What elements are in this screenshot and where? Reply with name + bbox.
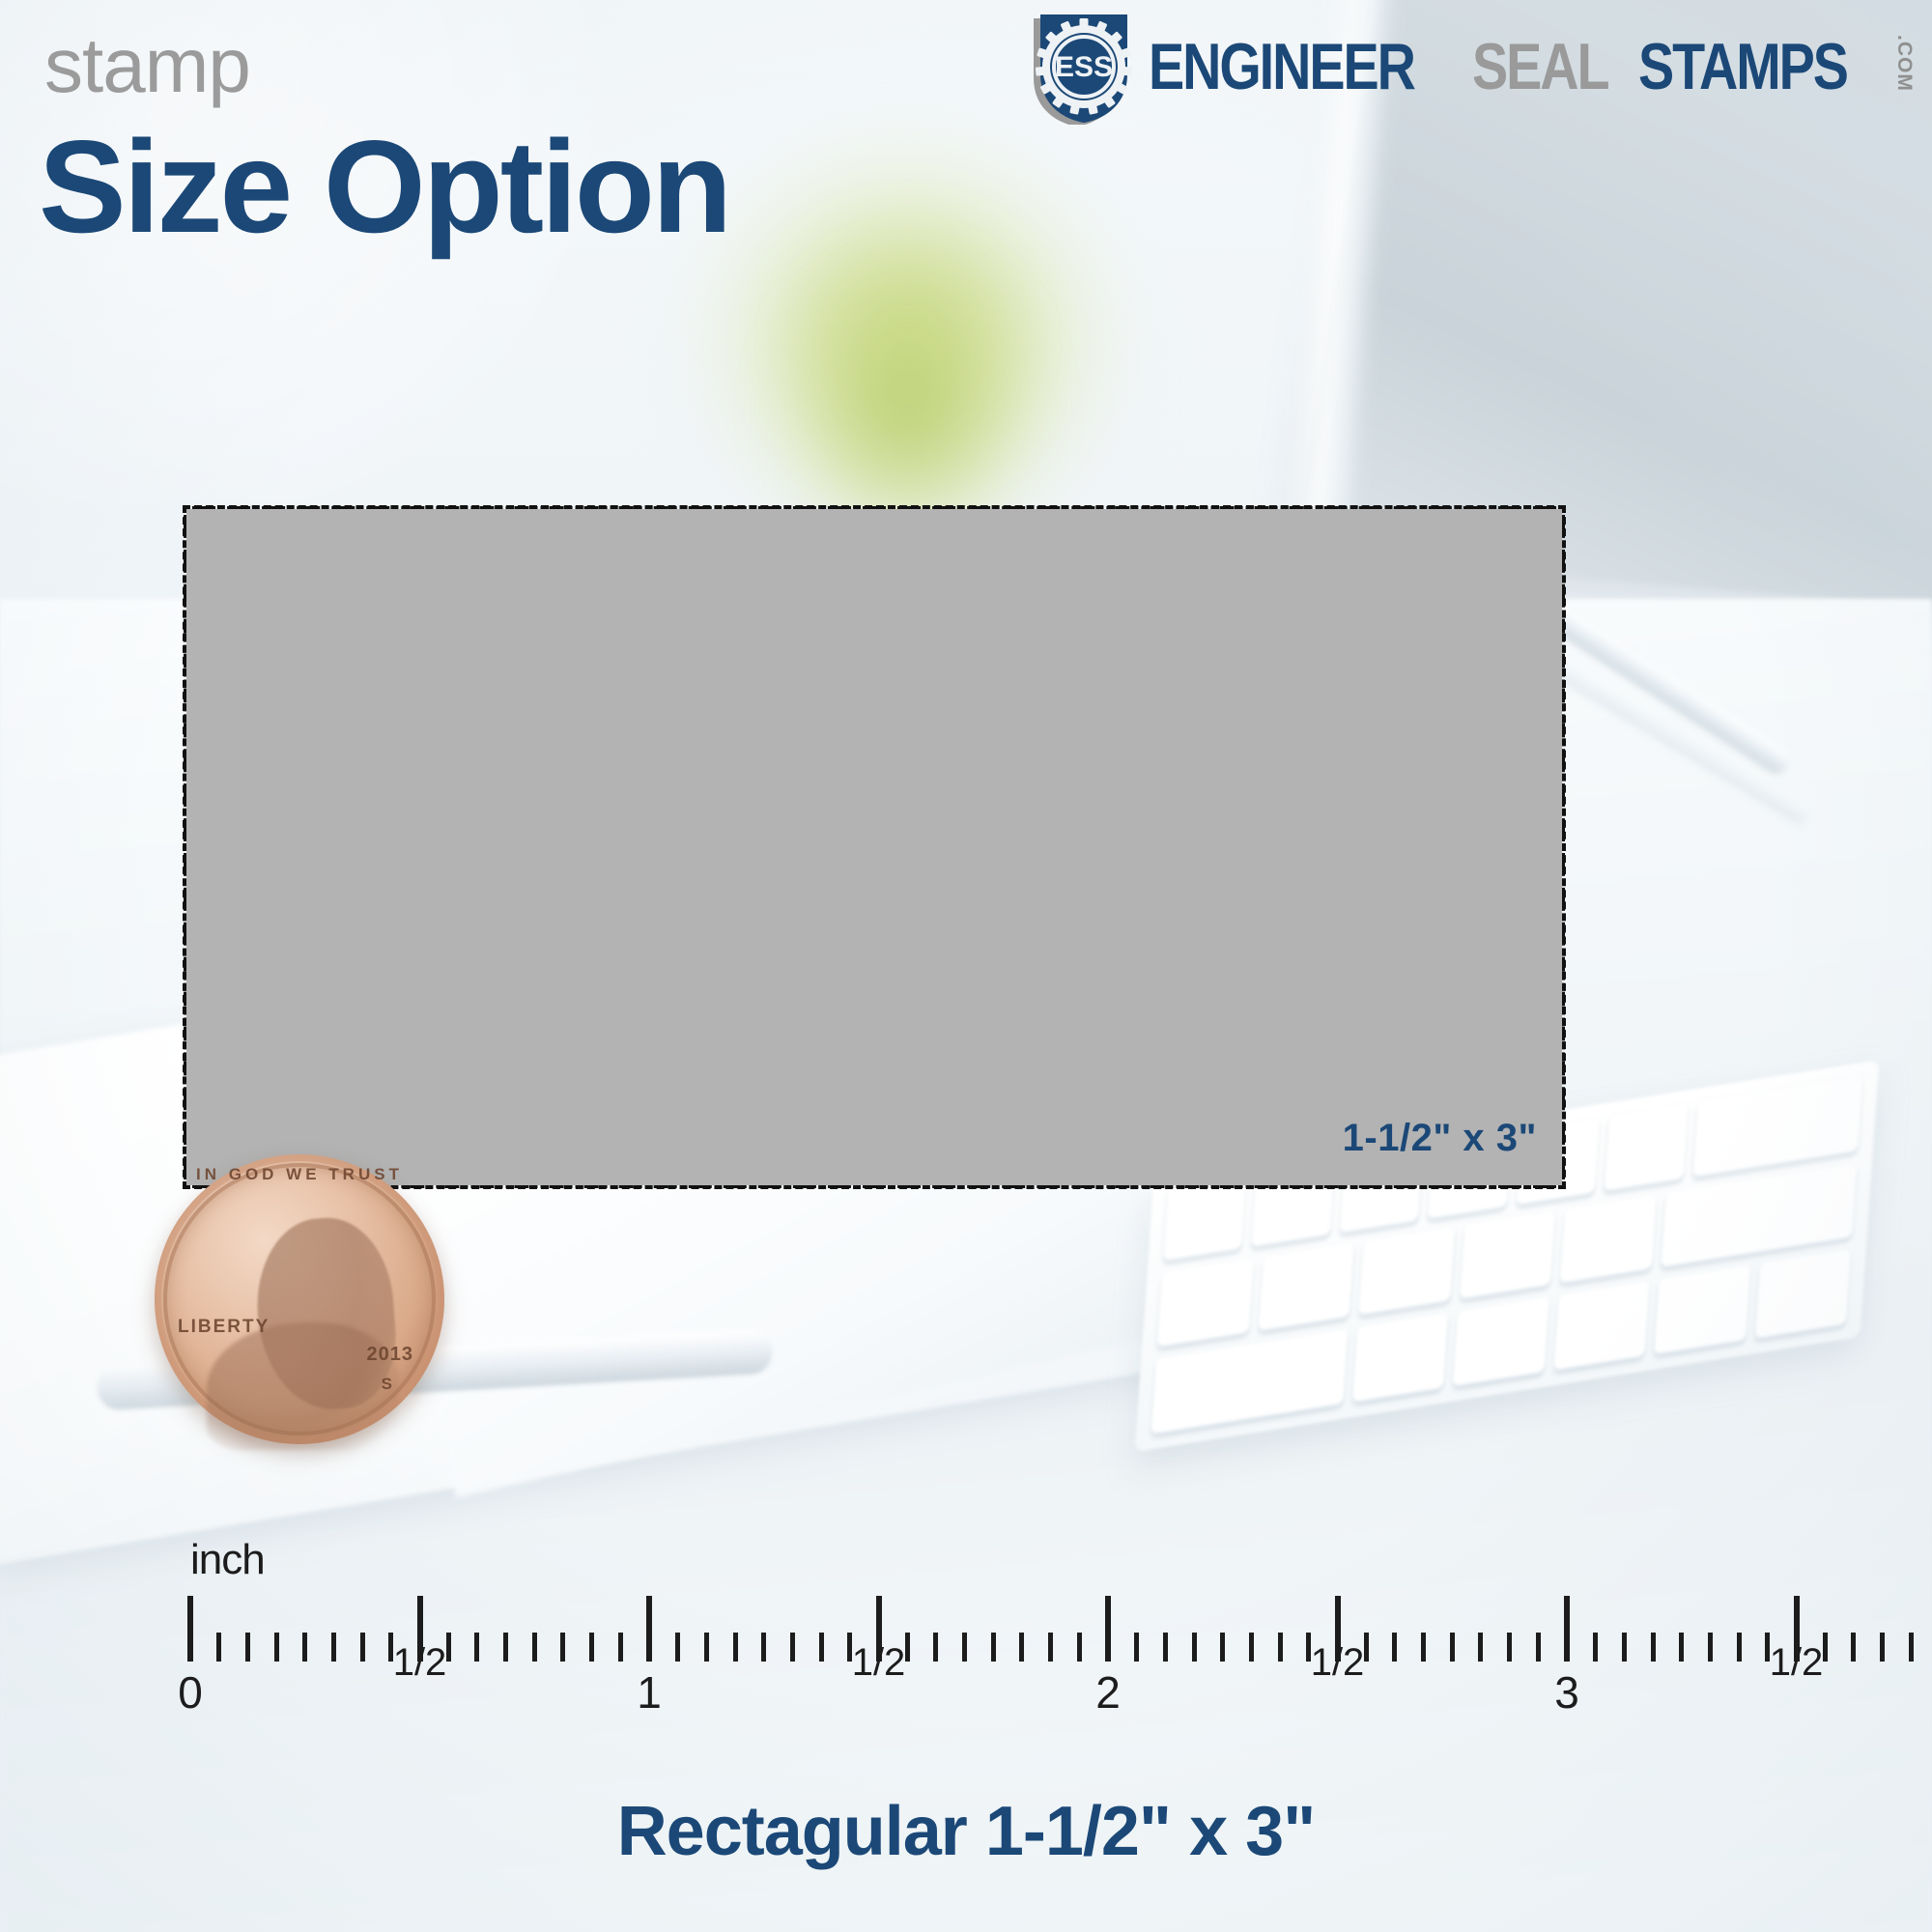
size-caption: Rectagular 1-1/2" x 3" xyxy=(0,1792,1932,1871)
penny-motto: IN GOD WE TRUST xyxy=(179,1165,420,1184)
ruler-tick-minor xyxy=(1220,1633,1225,1662)
ruler-tick-major xyxy=(646,1596,652,1662)
ruler-tick-minor xyxy=(1478,1633,1483,1662)
ruler-label: 1/2 xyxy=(852,1641,906,1685)
ruler-tick-minor xyxy=(675,1633,680,1662)
penny-coin: IN GOD WE TRUST LIBERTY 2013 S xyxy=(155,1154,444,1444)
penny-inscriptions: IN GOD WE TRUST LIBERTY 2013 S xyxy=(155,1154,444,1444)
ruler-tick-minor xyxy=(1192,1633,1197,1662)
ruler-tick-minor xyxy=(274,1633,279,1662)
ruler-tick-minor xyxy=(704,1633,709,1662)
ruler-tick-minor xyxy=(1708,1633,1713,1662)
ruler-tick-minor xyxy=(1048,1633,1053,1662)
page-kicker: stamp xyxy=(44,27,250,104)
ruler-tick-minor xyxy=(1536,1633,1541,1662)
ruler-tick-major xyxy=(1105,1596,1111,1662)
ess-badge-icon: ESS xyxy=(1025,7,1139,125)
penny-mint-mark: S xyxy=(382,1375,392,1394)
ruler-tick-minor xyxy=(1679,1633,1684,1662)
ruler-tick-major xyxy=(1564,1596,1570,1662)
ruler-tick-minor xyxy=(790,1633,795,1662)
ruler-label: 2 xyxy=(1095,1666,1121,1719)
ruler-tick-minor xyxy=(933,1633,938,1662)
ruler-label: 1 xyxy=(637,1666,662,1719)
ruler-tick-minor xyxy=(532,1633,537,1662)
stamp-preview-dashed-border xyxy=(183,505,1566,1189)
ruler-tick-minor xyxy=(905,1633,910,1662)
logo-word-stamps: STAMPS xyxy=(1638,37,1847,98)
ruler-tick-minor xyxy=(1909,1633,1914,1662)
ruler-tick-minor xyxy=(618,1633,623,1662)
ruler-unit-label: inch xyxy=(190,1536,265,1584)
penny-year: 2013 xyxy=(367,1344,414,1366)
page-title: Size Option xyxy=(39,121,729,252)
ruler-ticks xyxy=(0,1594,1932,1662)
ruler-tick-minor xyxy=(991,1633,996,1662)
stamp-preview-area[interactable]: 1-1/2" x 3" xyxy=(186,509,1562,1185)
ruler-tick-minor xyxy=(1249,1633,1254,1662)
ruler-tick-minor xyxy=(589,1633,594,1662)
ruler-tick-minor xyxy=(1278,1633,1283,1662)
ruler-tick-minor xyxy=(733,1633,738,1662)
ruler-tick-minor xyxy=(331,1633,336,1662)
ruler-tick-minor xyxy=(962,1633,967,1662)
ruler-tick-minor xyxy=(1364,1633,1369,1662)
ruler-tick-major xyxy=(187,1596,193,1662)
ruler-tick-minor xyxy=(1163,1633,1168,1662)
ruler-label: 1/2 xyxy=(1770,1641,1824,1685)
ruler-tick-minor xyxy=(1737,1633,1742,1662)
ruler-tick-minor xyxy=(1593,1633,1598,1662)
logo-wordmark: ENGINEER SEAL STAMPS .COM xyxy=(1149,35,1915,98)
brand-logo[interactable]: ESS ENGINEER SEAL STAMPS .COM xyxy=(1025,8,1915,124)
ruler-tick-minor xyxy=(819,1633,824,1662)
ruler-tick-minor xyxy=(302,1633,307,1662)
ruler-tick-minor xyxy=(245,1633,250,1662)
ruler-tick-minor xyxy=(216,1633,221,1662)
penny-liberty: LIBERTY xyxy=(178,1317,270,1338)
ruler-tick-minor xyxy=(761,1633,766,1662)
logo-word-seal: SEAL xyxy=(1472,37,1608,98)
ruler-tick-minor xyxy=(1392,1633,1397,1662)
ruler-tick-minor xyxy=(474,1633,479,1662)
penny-reference: IN GOD WE TRUST LIBERTY 2013 S xyxy=(155,1154,444,1444)
ruler-tick-minor xyxy=(1851,1633,1856,1662)
ruler-tick-minor xyxy=(1134,1633,1139,1662)
ruler-label: 1/2 xyxy=(393,1641,447,1685)
ruler-tick-minor xyxy=(1880,1633,1885,1662)
ruler-tick-minor xyxy=(560,1633,565,1662)
ess-badge-text: ESS xyxy=(1055,51,1113,83)
ruler-label: 0 xyxy=(178,1666,203,1719)
ruler-tick-minor xyxy=(1019,1633,1024,1662)
ruler-label: 3 xyxy=(1554,1666,1579,1719)
ruler-tick-minor xyxy=(1507,1633,1512,1662)
ruler-tick-minor xyxy=(1421,1633,1426,1662)
ruler-tick-minor xyxy=(1651,1633,1656,1662)
ruler-label: 1/2 xyxy=(1311,1641,1365,1685)
ruler-tick-minor xyxy=(446,1633,451,1662)
ruler-tick-minor xyxy=(503,1633,508,1662)
ruler-tick-minor xyxy=(360,1633,365,1662)
size-option-graphic: stamp Size Option xyxy=(0,0,1932,1932)
ruler-tick-minor xyxy=(1622,1633,1627,1662)
ruler-tick-minor xyxy=(1450,1633,1455,1662)
inch-ruler: inch 01/211/221/231/2 xyxy=(0,1536,1932,1777)
logo-word-tld: .COM xyxy=(1894,35,1915,92)
ruler-labels: 01/211/221/231/2 xyxy=(0,1666,1932,1744)
ruler-tick-minor xyxy=(1823,1633,1828,1662)
ruler-tick-minor xyxy=(1077,1633,1082,1662)
logo-word-engineer: ENGINEER xyxy=(1149,37,1414,98)
stamp-size-label: 1-1/2" x 3" xyxy=(1343,1117,1537,1160)
